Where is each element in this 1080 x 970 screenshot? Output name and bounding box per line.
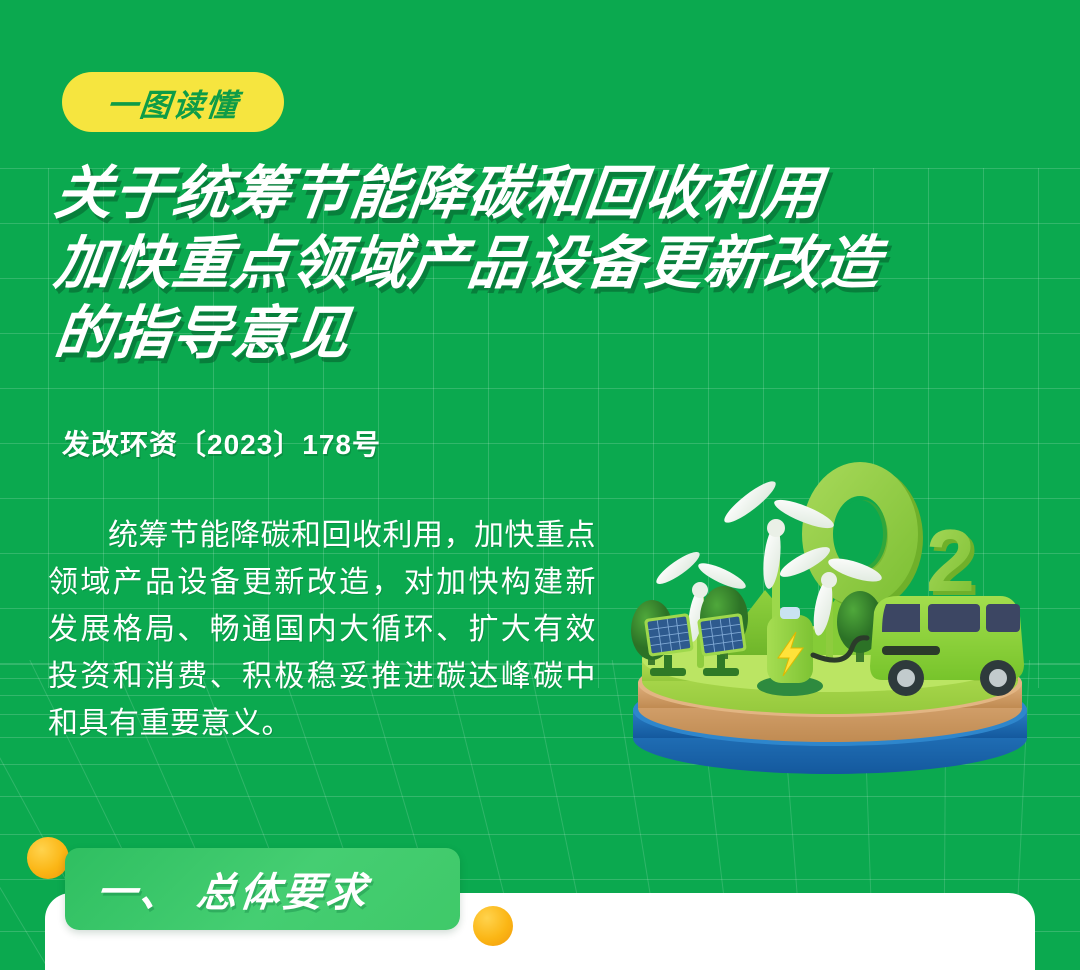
page-title: 关于统筹节能降碳和回收利用 加快重点领域产品设备更新改造 的指导意见	[55, 162, 1065, 372]
section-header-card[interactable]: 一、 总体要求	[65, 848, 460, 930]
title-line-1: 关于统筹节能降碳和回收利用	[51, 162, 1069, 225]
grid-horizontal-line	[0, 796, 1080, 797]
read-at-a-glance-badge[interactable]: 一图读懂	[62, 72, 284, 132]
svg-text:2: 2	[926, 511, 975, 610]
grid-horizontal-line	[0, 834, 1080, 835]
badge-label: 一图读懂	[105, 80, 242, 125]
intro-paragraph: 统筹节能降碳和回收利用，加快重点领域产品设备更新改造，对加快构建新发展格局、畅通…	[48, 512, 596, 747]
orange-dot-top-left	[27, 837, 69, 879]
orange-dot-panel	[473, 906, 513, 946]
grid-diagonal-line	[1075, 660, 1080, 970]
section-header-label: 一、 总体要求	[94, 860, 372, 918]
eco-energy-illustration: 2 2	[620, 440, 1040, 780]
document-number: 发改环资〔2023〕178号	[62, 423, 381, 463]
title-line-2: 加快重点领域产品设备更新改造	[51, 232, 1069, 295]
title-line-3: 的指导意见	[51, 302, 1069, 365]
poster-canvas: 一图读懂 关于统筹节能降碳和回收利用 加快重点领域产品设备更新改造 的指导意见 …	[0, 0, 1080, 970]
